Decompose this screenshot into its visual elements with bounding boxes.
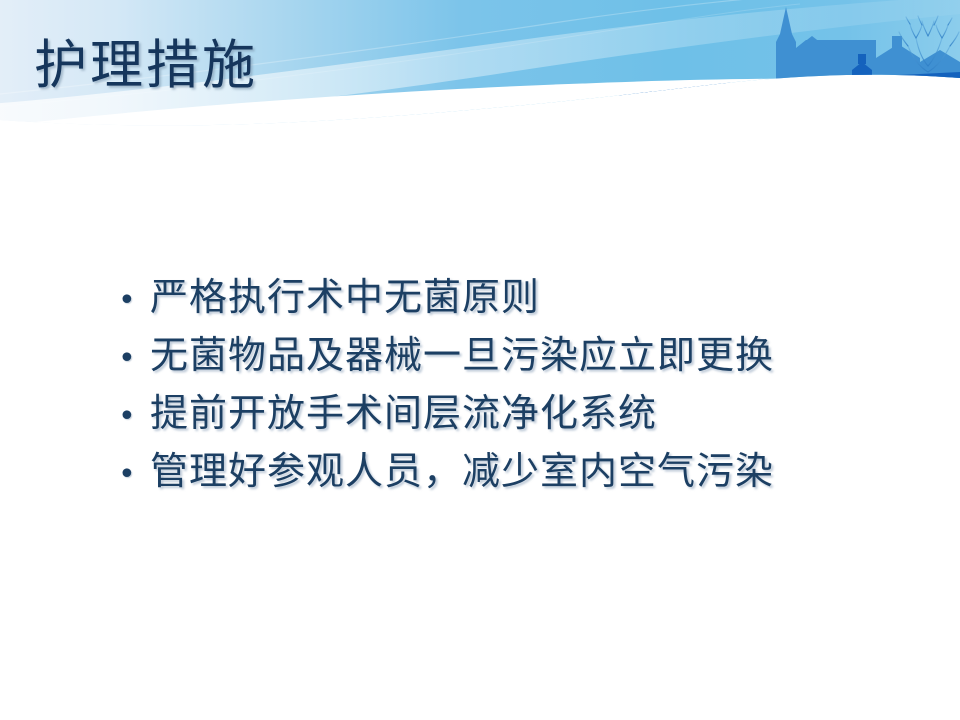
presentation-slide: 护理措施 • 严格执行术中无菌原则 • 无菌物品及器械一旦污染应立即更换 • 提… [0, 0, 960, 720]
slide-title: 护理措施 [34, 36, 258, 95]
outbuilding-chimney-icon [858, 54, 866, 64]
list-item-label: 管理好参观人员，减少室内空气污染 [150, 442, 774, 500]
list-item: • 无菌物品及器械一旦污染应立即更换 [118, 326, 918, 384]
list-item: • 提前开放手术间层流净化系统 [118, 384, 918, 442]
bullet-point-icon: • [118, 388, 150, 446]
list-item-label: 无菌物品及器械一旦污染应立即更换 [150, 326, 774, 384]
bullet-point-icon: • [118, 272, 150, 330]
list-item-label: 严格执行术中无菌原则 [150, 268, 540, 326]
house-chimney-icon [892, 36, 902, 48]
list-item: • 管理好参观人员，减少室内空气污染 [118, 442, 918, 500]
slide-body-content: • 严格执行术中无菌原则 • 无菌物品及器械一旦污染应立即更换 • 提前开放手术… [118, 268, 918, 500]
bullet-point-icon: • [118, 446, 150, 504]
bullet-point-icon: • [118, 330, 150, 388]
list-item: • 严格执行术中无菌原则 [118, 268, 918, 326]
list-item-label: 提前开放手术间层流净化系统 [150, 384, 657, 442]
